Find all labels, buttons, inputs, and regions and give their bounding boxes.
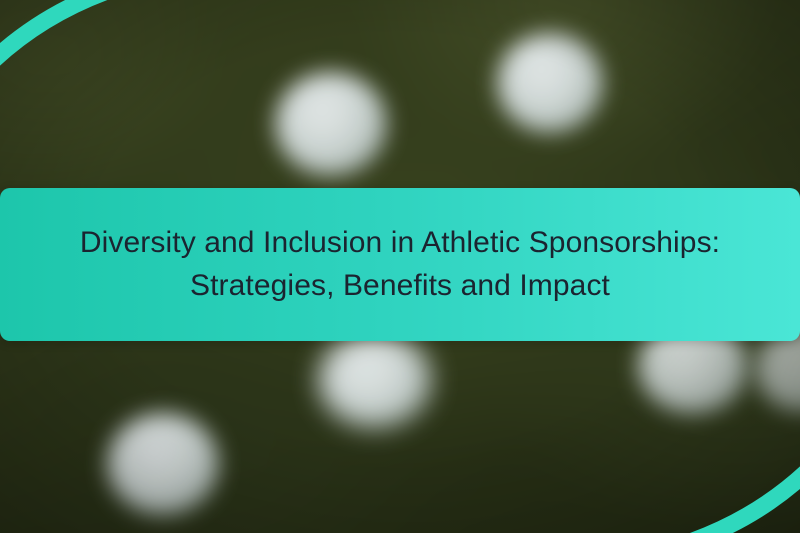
page-title: Diversity and Inclusion in Athletic Spon…: [60, 222, 740, 307]
title-card: Diversity and Inclusion in Athletic Spon…: [0, 0, 800, 533]
title-banner: Diversity and Inclusion in Athletic Spon…: [0, 188, 800, 341]
